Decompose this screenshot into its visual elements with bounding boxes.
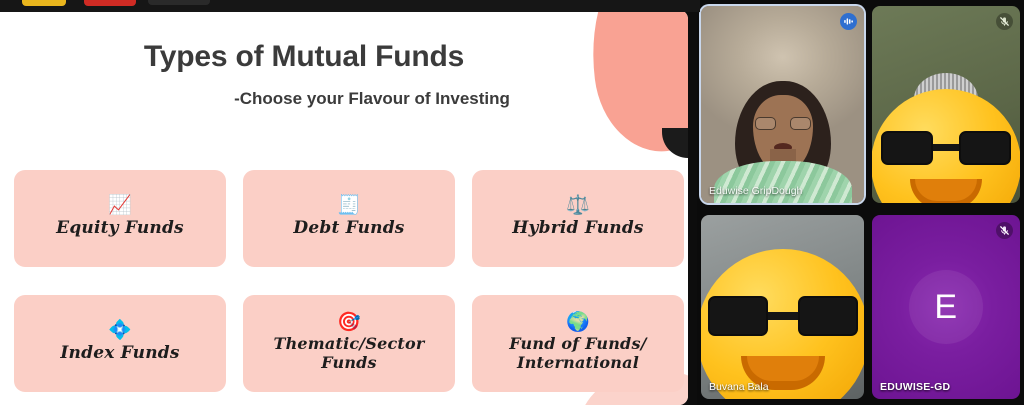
- fund-card-debt[interactable]: 🧾 Debt Funds: [243, 170, 455, 267]
- fund-card-label: Index Funds: [60, 343, 179, 363]
- meeting-screen-share-view: Types of Mutual Funds -Choose your Flavo…: [0, 0, 1024, 405]
- participant-video-grid: Eduwise GripDough: [697, 0, 1024, 405]
- receipt-icon: 🧾: [337, 196, 361, 215]
- participant-name-label: EDUWISE-GD: [880, 381, 950, 393]
- sunglasses-emoji-avatar: [872, 89, 1020, 203]
- mic-muted-icon: [996, 13, 1013, 30]
- fund-card-label: Fund of Funds/ International: [480, 335, 676, 373]
- toolbar-chip-dark[interactable]: [148, 0, 210, 5]
- globe-icon: 🌍: [566, 313, 590, 332]
- dart-target-icon: 🎯: [337, 313, 361, 332]
- balance-scale-icon: ⚖️: [566, 196, 590, 215]
- participant-tile-emoji-olive[interactable]: [868, 0, 1024, 209]
- video-feed: [872, 6, 1020, 203]
- video-feed: Buvana Bala: [701, 215, 864, 399]
- shared-screen-region[interactable]: Types of Mutual Funds -Choose your Flavo…: [0, 10, 697, 405]
- video-feed: Eduwise GripDough: [701, 6, 864, 203]
- fund-card-fund-of-funds[interactable]: 🌍 Fund of Funds/ International: [472, 295, 684, 392]
- avatar: E: [909, 270, 983, 344]
- fund-card-equity[interactable]: 📈 Equity Funds: [14, 170, 226, 267]
- fund-card-label: Equity Funds: [56, 218, 184, 238]
- participant-tile-buvana-bala[interactable]: Buvana Bala: [697, 209, 868, 405]
- fund-card-index[interactable]: 💠 Index Funds: [14, 295, 226, 392]
- fund-card-label: Debt Funds: [293, 218, 404, 238]
- participant-tile-eduwise-gd[interactable]: E EDUWISE-GD: [868, 209, 1024, 405]
- audio-level-icon: [840, 13, 857, 30]
- cropped-toolbar-strip: [0, 0, 700, 12]
- fund-card-label: Hybrid Funds: [512, 218, 643, 238]
- presentation-slide: Types of Mutual Funds -Choose your Flavo…: [0, 10, 688, 405]
- fund-card-hybrid[interactable]: ⚖️ Hybrid Funds: [472, 170, 684, 267]
- diamond-icon: 💠: [108, 321, 132, 340]
- slide-subtitle: -Choose your Flavour of Investing: [0, 89, 688, 109]
- mic-muted-icon: [996, 222, 1013, 239]
- participant-name-label: Eduwise GripDough: [709, 185, 802, 197]
- participant-tile-eduwise-gripdough[interactable]: Eduwise GripDough: [697, 0, 868, 209]
- fund-card-label: Thematic/Sector Funds: [251, 335, 447, 373]
- eyeglasses-icon: [755, 117, 811, 130]
- fund-type-card-grid: 📈 Equity Funds 🧾 Debt Funds ⚖️ Hybrid Fu…: [14, 170, 682, 392]
- slide-corner-notch: [662, 128, 688, 158]
- fund-card-thematic-sector[interactable]: 🎯 Thematic/Sector Funds: [243, 295, 455, 392]
- toolbar-chip-red[interactable]: [84, 0, 136, 6]
- slide-title: Types of Mutual Funds: [0, 40, 608, 74]
- toolbar-chip-yellow[interactable]: [22, 0, 66, 6]
- participant-name-label: Buvana Bala: [709, 381, 769, 393]
- video-feed: E EDUWISE-GD: [872, 215, 1020, 399]
- chart-increasing-icon: 📈: [108, 196, 132, 215]
- sunglasses-emoji-avatar: [701, 249, 864, 399]
